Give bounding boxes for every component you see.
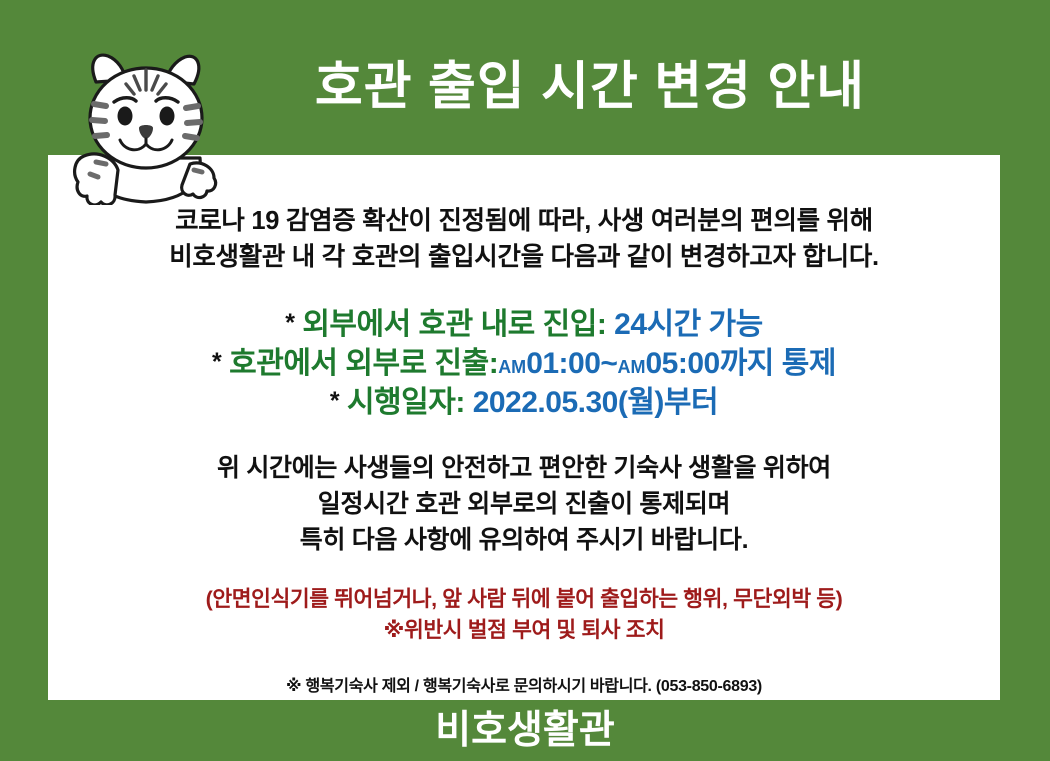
bullet-value-3: 2022.05.30(월)부터 <box>473 386 718 419</box>
warning-line-1: (안면인식기를 뛰어넘거나, 앞 사람 뒤에 붙어 출입하는 행위, 무단외박 … <box>48 584 1000 615</box>
contact-footnote: ※ 행복기숙사 제외 / 행복기숙사로 문의하시기 바랍니다. (053-850… <box>48 672 1000 696</box>
body-note-line-2: 일정시간 호관 외부로의 진출이 통제되며 <box>48 486 1000 522</box>
poster-footer: 비호생활관 <box>0 700 1050 761</box>
bullet-list: * 외부에서 호관 내로 진입: 24시간 가능 * 호관에서 외부로 진출:A… <box>48 305 1000 422</box>
bullet-label-3: 시행일자: <box>347 386 465 419</box>
dormitory-name: 비호생활관 <box>435 711 614 750</box>
bullet-time-start: 01:00 <box>526 347 600 380</box>
bullet-am-start: AM <box>498 357 526 377</box>
bullet-time-end: 05:00 <box>645 347 719 380</box>
bullet-entry-access-in: * 외부에서 호관 내로 진입: 24시간 가능 <box>48 305 1000 344</box>
bullet-am-end: AM <box>617 357 645 377</box>
bullet-value-1: 24시간 가능 <box>614 308 763 341</box>
bullet-entry-start-date: * 시행일자: 2022.05.30(월)부터 <box>48 383 1000 422</box>
body-note-line-1: 위 시간에는 사생들의 안전하고 편안한 기숙사 생활을 위하여 <box>48 450 1000 486</box>
intro-paragraph: 코로나 19 감염증 확산이 진정됨에 따라, 사생 여러분의 편의를 위해 비… <box>48 203 1000 275</box>
bullet-marker-1: * <box>285 309 294 337</box>
bullet-marker-2: * <box>212 348 221 376</box>
bullet-time-separator: ~ <box>600 347 617 380</box>
bullet-marker-3: * <box>330 387 339 415</box>
body-note-line-3: 특히 다음 사항에 유의하여 주시기 바랍니다. <box>48 522 1000 558</box>
bullet-label-1: 외부에서 호관 내로 진입: <box>302 308 606 341</box>
bullet-label-2: 호관에서 외부로 진출: <box>229 347 498 380</box>
warning-text: (안면인식기를 뛰어넘거나, 앞 사람 뒤에 붙어 출입하는 행위, 무단외박 … <box>48 584 1000 645</box>
intro-line-2: 비호생활관 내 각 호관의 출입시간을 다음과 같이 변경하고자 합니다. <box>72 239 976 275</box>
warning-line-2: ※위반시 벌점 부여 및 퇴사 조치 <box>48 615 1000 646</box>
body-note: 위 시간에는 사생들의 안전하고 편안한 기숙사 생활을 위하여 일정시간 호관… <box>48 450 1000 558</box>
bullet-entry-access-out: * 호관에서 외부로 진출:AM01:00~AM05:00까지 통제 <box>48 344 1000 383</box>
notice-card: 코로나 19 감염증 확산이 진정됨에 따라, 사생 여러분의 편의를 위해 비… <box>48 155 1000 700</box>
bullet-time-suffix: 까지 통제 <box>720 347 836 380</box>
page-title: 호관 출입 시간 변경 안내 <box>240 60 940 115</box>
poster-header: 호관 출입 시간 변경 안내 <box>0 0 1050 158</box>
intro-line-1: 코로나 19 감염증 확산이 진정됨에 따라, 사생 여러분의 편의를 위해 <box>72 203 976 239</box>
